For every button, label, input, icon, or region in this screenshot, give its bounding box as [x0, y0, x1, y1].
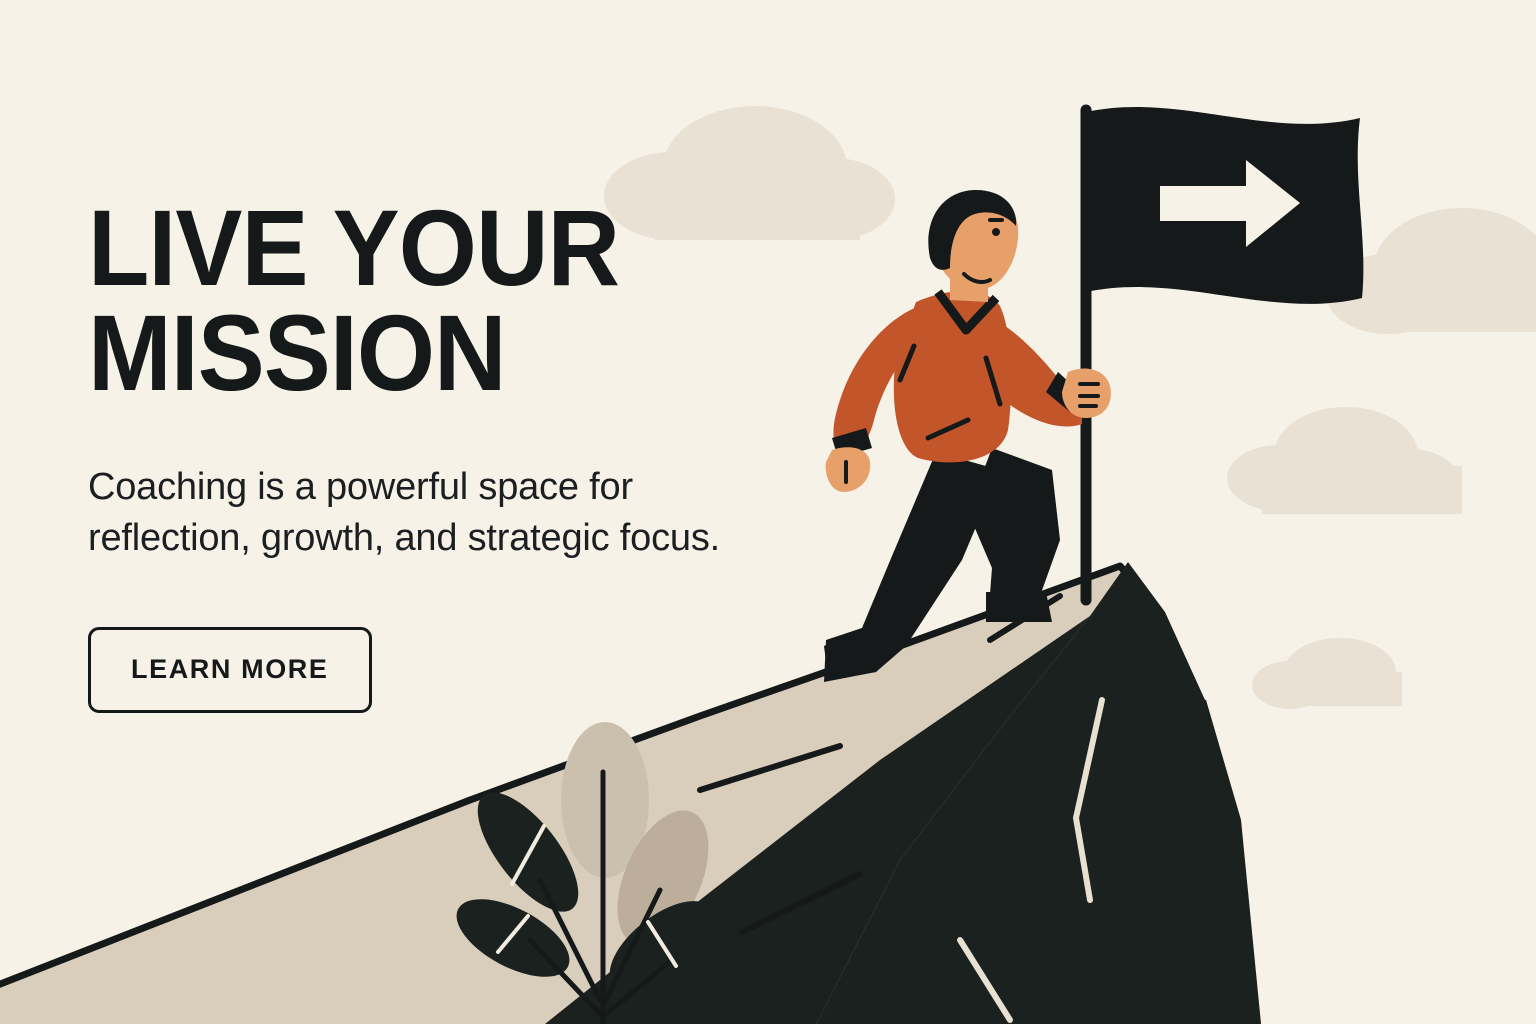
hand-front: [1062, 368, 1111, 418]
hero-subcopy: Coaching is a powerful space for reflect…: [88, 406, 778, 565]
headline-line-2: MISSION: [88, 301, 758, 406]
hero-content: LIVE YOUR MISSION Coaching is a powerful…: [88, 196, 808, 713]
boot-front: [986, 592, 1052, 622]
flag: [1086, 107, 1363, 304]
hero-banner: LIVE YOUR MISSION Coaching is a powerful…: [0, 0, 1536, 1024]
learn-more-button[interactable]: LEARN MORE: [88, 627, 372, 713]
eye: [992, 228, 1000, 236]
headline-line-1: LIVE YOUR: [88, 196, 758, 301]
page-title: LIVE YOUR MISSION: [88, 196, 758, 406]
